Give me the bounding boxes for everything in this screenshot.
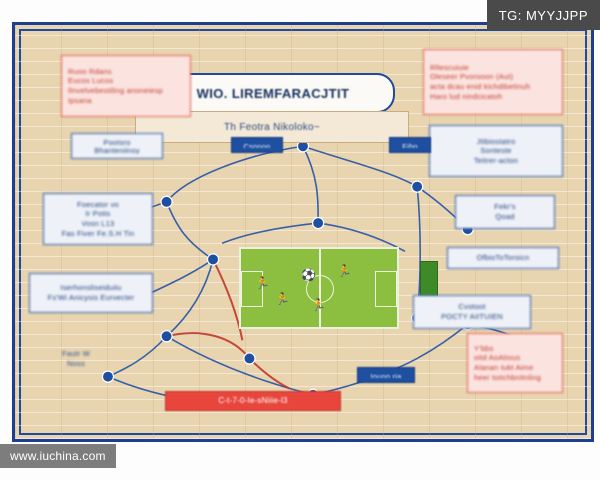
note-line: Rltescuiuie — [430, 63, 556, 73]
page-title-text: WIO. LIREMFARACJTIT — [197, 86, 350, 101]
label-line: Qoad — [495, 212, 514, 222]
label-left-mid[interactable]: Foecator vo Ir Potis Vosn L13 Fas Fiver … — [43, 193, 153, 245]
label-line: POCTY AIITUIEN — [441, 312, 503, 322]
note-top-right[interactable]: Rltescuiuie Oleseer Pvorooon (Aut) acta … — [423, 49, 563, 115]
note-line: oitd AoAtious — [474, 353, 556, 363]
note-top-left[interactable]: Ruoo Rdans Eucos Lucos Ilnvelvebestiling… — [61, 55, 191, 117]
label-center-top[interactable]: Csonon — [231, 137, 283, 153]
note-line: Ruoo Rdans — [68, 67, 184, 77]
note-line: Oleseer Pvorooon (Aut) — [430, 72, 556, 82]
label-upper-left[interactable]: Pootsro Bhanteniinsy — [71, 133, 163, 159]
label-line: Csonon — [243, 142, 270, 148]
label-top-right-blue[interactable]: Jtibiostatro Sonteste Teitrer-acton — [429, 125, 563, 177]
label-right-goal[interactable]: Fekr's Qoad — [455, 195, 555, 229]
note-right-bottom[interactable]: Y'bbs oitd AoAtious Alanan tukt Aime hee… — [467, 333, 563, 393]
ball-icon: ⚽ — [301, 269, 316, 281]
watermark: www.iuchina.com — [0, 444, 116, 468]
banner-bottom[interactable]: C-t-7-0-Ie-sNiiie-l3 — [165, 391, 341, 411]
pitch-penalty-box-right — [375, 271, 397, 307]
screenshot-root: WIO. LIREMFARACJTIT Th Feotra Nikoloko~ … — [0, 0, 600, 480]
label-line: Bhanteniinsy — [94, 146, 139, 154]
label-line: Cvotoot — [458, 302, 485, 312]
label-line: Noss — [67, 359, 85, 369]
player-icon: 🏃 — [275, 293, 290, 305]
banner-line: C-t-7-0-Ie-sNiiie-l3 — [218, 396, 287, 406]
tag-badge: TG: MYYJJPP — [487, 0, 600, 30]
label-line: Sonteste — [480, 146, 511, 156]
soccer-pitch: ⚽ 🏃 🏃 🏃 🏃 — [239, 247, 399, 329]
note-line: Haro lud nindcicatoh — [430, 92, 556, 102]
label-right-mid[interactable]: OfbioToToroicn — [447, 247, 559, 269]
label-line: Fs'Wi Anicysis Eurvecter — [48, 293, 135, 303]
label-line: Fautr W — [62, 349, 90, 359]
label-line: Foecator vo — [77, 200, 119, 210]
label-line: Vosn L13 — [82, 219, 115, 229]
watermark-text: www.iuchina.com — [10, 449, 106, 463]
label-line: OfbioToToroicn — [477, 253, 530, 263]
label-line: Teitrer-acton — [474, 156, 518, 166]
label-line: Fibo — [402, 142, 417, 148]
player-icon: 🏃 — [311, 299, 326, 311]
label-line: Iouno ria — [371, 372, 402, 378]
label-line: Ir Potis — [86, 209, 111, 219]
note-line: heer toitchbnitnling — [474, 373, 556, 383]
page-subtitle-text: Th Feotra Nikoloko~ — [224, 122, 320, 133]
note-line: Y'bbs — [474, 344, 556, 354]
player-icon: 🏃 — [337, 265, 352, 277]
player-icon: 🏃 — [255, 277, 270, 289]
note-line: acta dcau enid kichdibetinuh — [430, 82, 556, 92]
note-line: Eucos Lucos — [68, 76, 184, 86]
label-line: Fas Fiver Fe.S.H Tin — [62, 229, 135, 239]
label-bottom-center[interactable]: Iouno ria — [357, 367, 415, 383]
note-line: Alanan tukt Aime — [474, 363, 556, 373]
label-left-lower[interactable]: Iserhonsliseiduiiu Fs'Wi Anicysis Eurvec… — [29, 273, 153, 313]
label-line: Fekr's — [494, 202, 515, 212]
label-center-top-right[interactable]: Fibo — [389, 137, 431, 153]
label-line: Jtibiostatro — [477, 137, 516, 147]
note-line: Ipsana — [68, 96, 184, 106]
label-bottom-left[interactable]: Fautr W Noss — [37, 345, 115, 373]
label-line: Iserhonsliseiduiiu — [60, 283, 121, 293]
label-line: Pootsro — [103, 138, 130, 146]
note-line: Ilnvelvebestiling anoneiesp — [68, 86, 184, 96]
tag-badge-text: TG: MYYJJPP — [499, 8, 588, 23]
label-right-lower[interactable]: Cvotoot POCTY AIITUIEN — [413, 295, 531, 329]
infographic-poster: WIO. LIREMFARACJTIT Th Feotra Nikoloko~ … — [12, 22, 594, 442]
